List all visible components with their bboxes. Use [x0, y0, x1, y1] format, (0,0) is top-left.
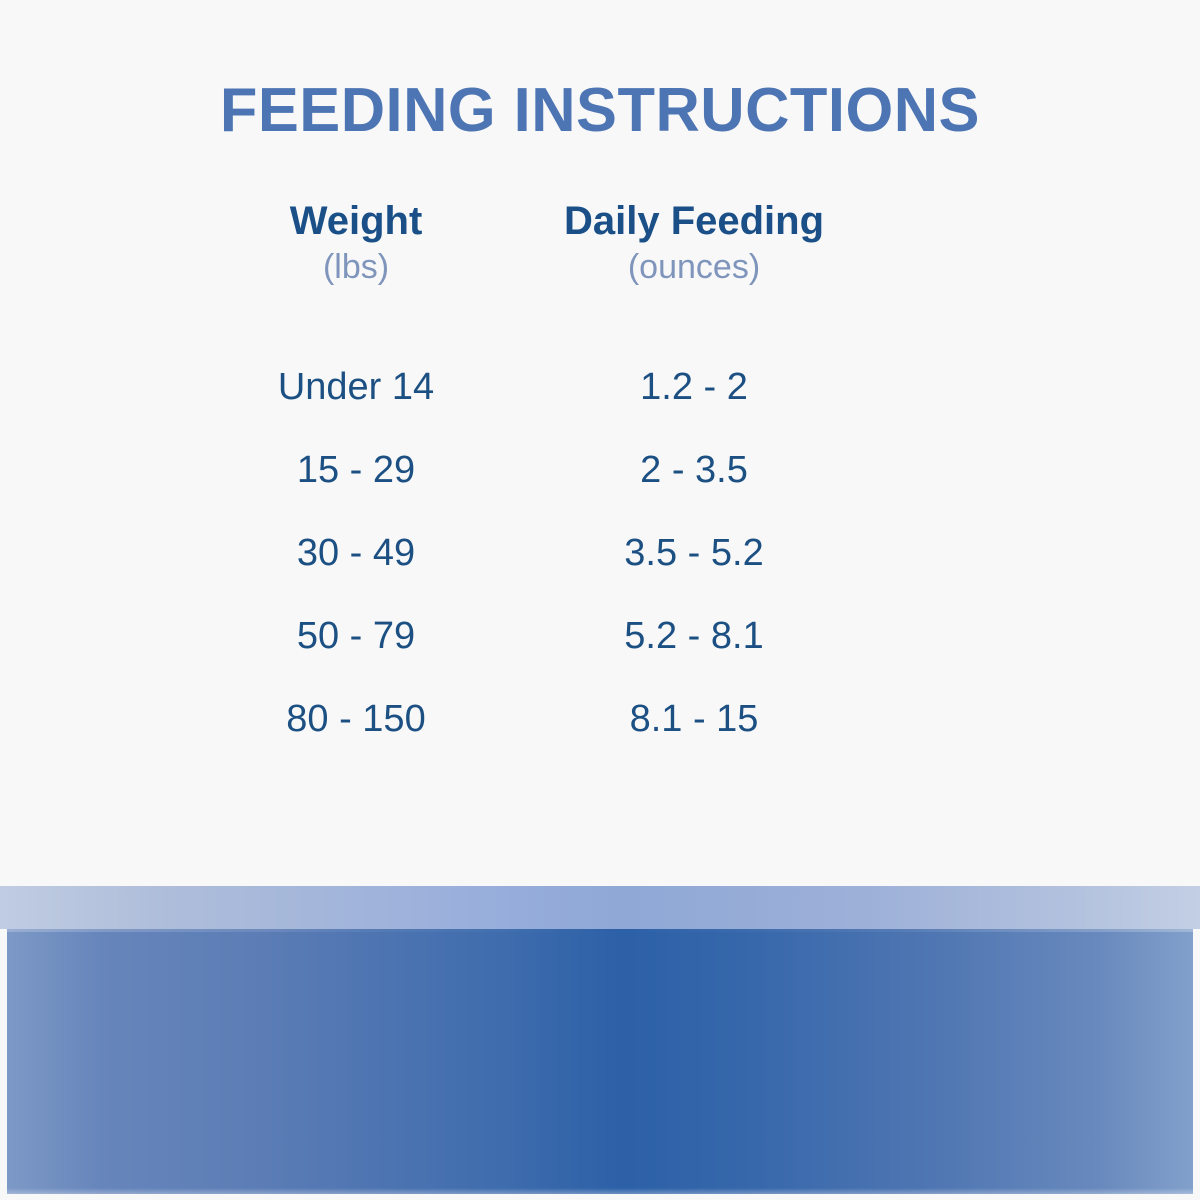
cell-weight: Under 14 [178, 366, 534, 409]
feeding-instructions-panel: FEEDING INSTRUCTIONS Weight (lbs) Daily … [0, 0, 1200, 1200]
table-row: Under 14 1.2 - 2 [0, 346, 1200, 429]
table-body: Under 14 1.2 - 2 15 - 29 2 - 3.5 30 - 49… [0, 346, 1200, 761]
table-header-row: Weight (lbs) Daily Feeding (ounces) [0, 198, 1200, 291]
column-header-feeding-unit: (ounces) [516, 245, 872, 291]
column-header-weight: Weight (lbs) [178, 198, 534, 291]
page-title: FEEDING INSTRUCTIONS [220, 78, 980, 143]
table-row: 80 - 150 8.1 - 15 [0, 678, 1200, 761]
column-header-weight-label: Weight [178, 198, 534, 245]
cell-feeding: 1.2 - 2 [516, 366, 872, 409]
cell-feeding: 2 - 3.5 [516, 449, 872, 492]
decorative-band-top-highlight [7, 929, 1193, 932]
cell-weight: 50 - 79 [178, 615, 534, 658]
cell-weight: 80 - 150 [178, 698, 534, 741]
cell-feeding: 5.2 - 8.1 [516, 615, 872, 658]
cell-feeding: 8.1 - 15 [516, 698, 872, 741]
title-container: FEEDING INSTRUCTIONS [0, 78, 1200, 143]
cell-feeding: 3.5 - 5.2 [516, 532, 872, 575]
decorative-dark-band [7, 929, 1193, 1194]
column-header-feeding-label: Daily Feeding [516, 198, 872, 245]
column-header-feeding: Daily Feeding (ounces) [516, 198, 872, 291]
cell-weight: 15 - 29 [178, 449, 534, 492]
column-header-weight-unit: (lbs) [178, 245, 534, 291]
decorative-light-band [0, 886, 1200, 929]
feeding-table: Weight (lbs) Daily Feeding (ounces) Unde… [0, 198, 1200, 761]
cell-weight: 30 - 49 [178, 532, 534, 575]
table-row: 50 - 79 5.2 - 8.1 [0, 595, 1200, 678]
table-row: 15 - 29 2 - 3.5 [0, 429, 1200, 512]
table-row: 30 - 49 3.5 - 5.2 [0, 512, 1200, 595]
decorative-band-bottom-highlight [7, 1188, 1193, 1194]
